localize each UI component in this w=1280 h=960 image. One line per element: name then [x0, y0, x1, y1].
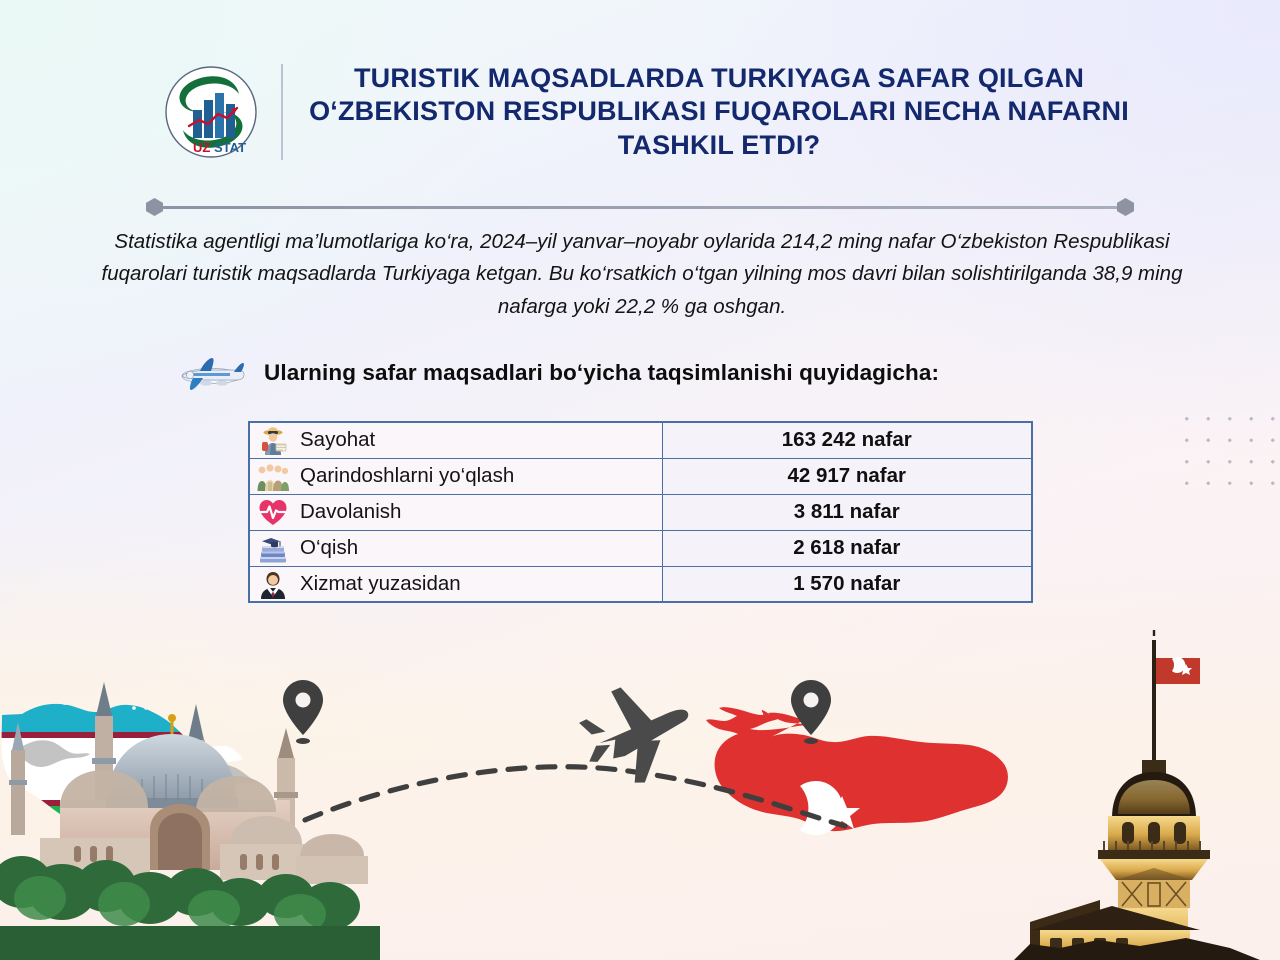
table-cell-value: 42 917 nafar	[662, 458, 1032, 494]
family-icon	[256, 460, 290, 492]
divider-bar	[156, 206, 1124, 209]
table-cell-label: Sayohat	[249, 422, 662, 458]
table-cell-label: Qarindoshlarni yo‘qlash	[249, 458, 662, 494]
header: UZ STAT TURISTIK MAQSADLARDA TURKIYAGA S…	[0, 62, 1280, 162]
table-cell-label-text: Xizmat yuzasidan	[300, 572, 461, 596]
heartbeat-icon	[256, 496, 290, 528]
dot-grid-decoration	[1176, 408, 1280, 500]
intro-paragraph: Statistika agentligi ma’lumotlariga ko‘r…	[92, 226, 1192, 323]
table-cell-label-text: Qarindoshlarni yo‘qlash	[300, 464, 514, 488]
table-cell-value: 2 618 nafar	[662, 530, 1032, 566]
airplane-silhouette-icon	[574, 675, 701, 793]
airliner-photo-icon	[170, 352, 248, 394]
table-row: Xizmat yuzasidan 1 570 nafar	[249, 566, 1032, 602]
table-cell-value: 3 811 nafar	[662, 494, 1032, 530]
page-title: TURISTIK MAQSADLARDA TURKIYAGA SAFAR QIL…	[309, 62, 1129, 162]
businessman-icon	[256, 568, 290, 600]
table-row: Davolanish 3 811 nafar	[249, 494, 1032, 530]
table-cell-value: 163 242 nafar	[662, 422, 1032, 458]
maidens-tower-illustration	[1014, 630, 1260, 960]
scene-illustration	[0, 630, 1280, 960]
tourist-icon	[256, 424, 290, 456]
table-cell-label: O‘qish	[249, 530, 662, 566]
subtitle-row: Ularning safar maqsadlari bo‘yicha taqsi…	[170, 352, 939, 394]
logo-wordmark-uz: UZ	[193, 140, 210, 155]
table-cell-label: Davolanish	[249, 494, 662, 530]
location-pin-origin	[283, 680, 323, 744]
table-cell-value: 1 570 nafar	[662, 566, 1032, 602]
divider-cap-right	[1117, 198, 1134, 216]
table-cell-label: Xizmat yuzasidan	[249, 566, 662, 602]
horizontal-divider	[146, 198, 1134, 216]
table-row: O‘qish 2 618 nafar	[249, 530, 1032, 566]
table-cell-label-text: Davolanish	[300, 500, 401, 524]
table-cell-label-text: Sayohat	[300, 428, 375, 452]
purpose-breakdown-table: Sayohat 163 242 nafar	[248, 421, 1033, 603]
subtitle-text: Ularning safar maqsadlari bo‘yicha taqsi…	[264, 360, 939, 386]
table-body: Sayohat 163 242 nafar	[249, 422, 1032, 602]
table-cell-label-text: O‘qish	[300, 536, 358, 560]
table-row: Qarindoshlarni yo‘qlash 42 917 nafar	[249, 458, 1032, 494]
header-divider-vertical	[281, 64, 283, 160]
logo-wordmark-stat: STAT	[214, 140, 246, 155]
uzstat-logo: UZ STAT	[163, 64, 259, 160]
turkey-flag-map	[706, 707, 1008, 835]
table-row: Sayohat 163 242 nafar	[249, 422, 1032, 458]
books-icon	[256, 532, 290, 564]
